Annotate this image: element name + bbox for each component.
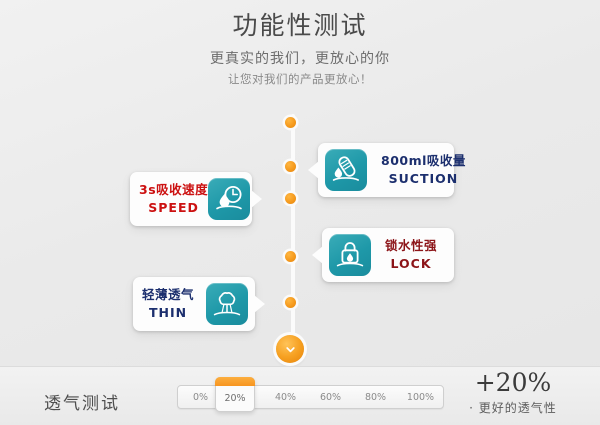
breathability-segmented-control[interactable]: 0% 40% 60% 80% 100% 20% [177,385,444,409]
clock-droplet-icon [208,178,250,220]
feature-card-suction-text: 800ml吸收量 SUCTION [381,153,466,186]
timeline-dot-2 [285,161,296,172]
feature-card-speed-text: 3s吸收速度 SPEED [139,182,208,215]
feature-card-lock-pointer [312,246,323,264]
timeline-dot-1 [285,117,296,128]
feature-card-thin-pointer [254,295,265,313]
stat-caption: · 更好的透气性 [448,399,578,416]
feature-card-thin[interactable]: 轻薄透气 THIN [133,277,255,331]
page-header: 功能性测试 更真实的我们，更放心的你 让您对我们的产品更放心！ [0,10,600,87]
feature-card-speed-en: SPEED [148,200,199,216]
page-title: 功能性测试 [0,10,600,43]
feature-card-suction-en: SUCTION [389,171,459,187]
timeline-end-marker[interactable] [276,335,304,363]
breathability-stat: +20% · 更好的透气性 [448,370,578,416]
page-subtitle-secondary: 让您对我们的产品更放心！ [0,71,600,87]
lock-droplet-icon [329,234,371,276]
segment-1-selected[interactable]: 20% [215,377,255,412]
chevron-down-icon [284,343,297,356]
segment-4[interactable]: 80% [353,386,398,408]
tree-breathe-icon [206,283,248,325]
segment-5[interactable]: 100% [398,386,443,408]
segment-3[interactable]: 60% [308,386,353,408]
page-subtitle-primary: 更真实的我们，更放心的你 [0,48,600,68]
feature-card-speed[interactable]: 3s吸收速度 SPEED [130,172,252,226]
feature-card-thin-text: 轻薄透气 THIN [142,287,194,320]
feature-card-lock[interactable]: 锁水性强 LOCK [322,228,454,282]
feature-card-speed-cn: 3s吸收速度 [139,182,208,198]
feature-card-lock-cn: 锁水性强 [385,238,437,254]
stat-value: +20% [448,370,578,395]
feature-card-thin-en: THIN [149,305,187,321]
feature-card-lock-en: LOCK [391,256,432,272]
feature-card-suction[interactable]: 800ml吸收量 SUCTION [318,143,454,197]
timeline-dot-4 [285,251,296,262]
feature-card-lock-text: 锁水性强 LOCK [385,238,437,271]
timeline-dot-3 [285,193,296,204]
segment-2[interactable]: 40% [263,386,308,408]
feature-card-suction-pointer [308,161,319,179]
feature-card-thin-cn: 轻薄透气 [142,287,194,303]
timeline-dot-5 [285,297,296,308]
breathability-test-label: 透气测试 [44,389,120,414]
feature-card-suction-cn: 800ml吸收量 [381,153,466,169]
feature-card-speed-pointer [251,190,262,208]
timeline-track [291,114,295,352]
test-tube-icon [325,149,367,191]
